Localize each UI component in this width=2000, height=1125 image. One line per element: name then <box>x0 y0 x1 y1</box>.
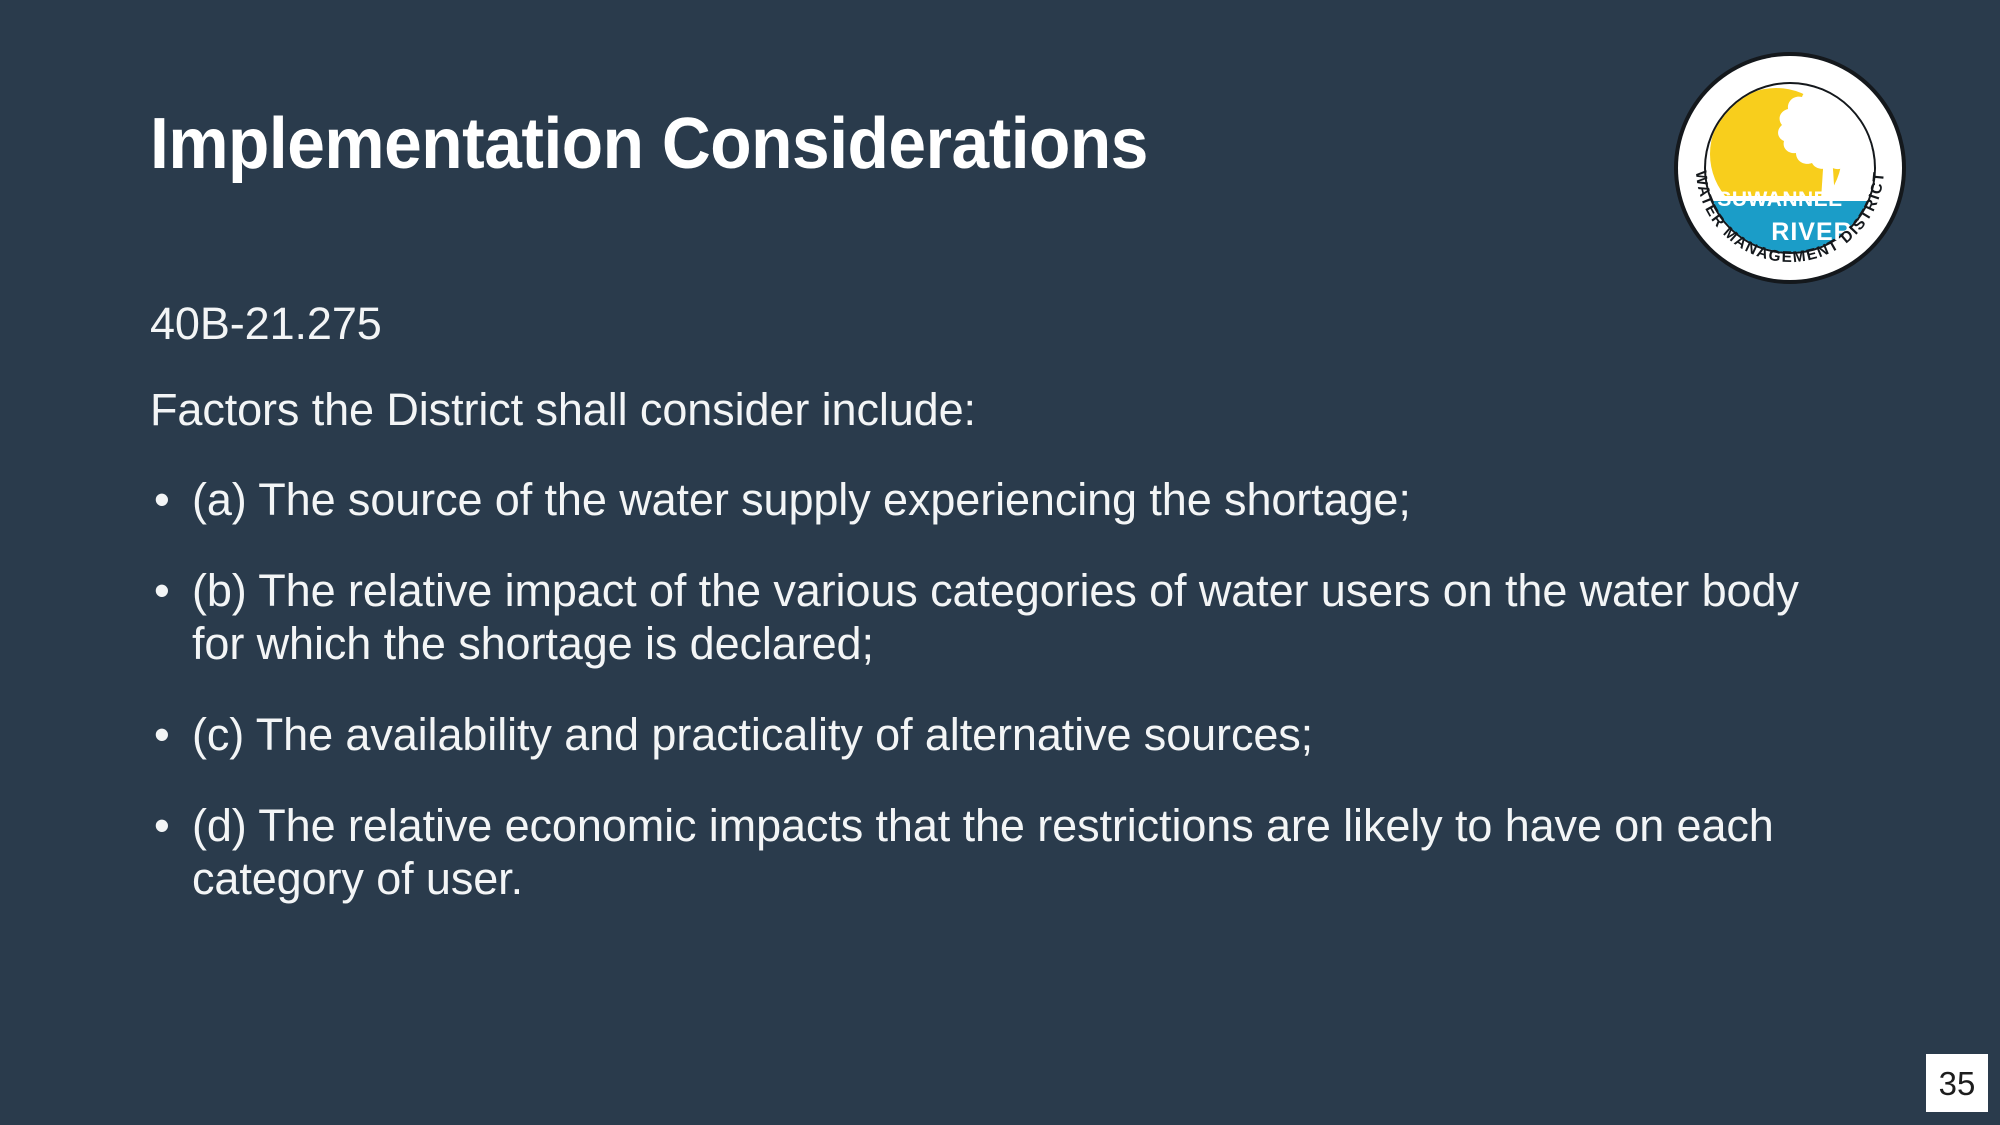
lead-in-text: Factors the District shall consider incl… <box>150 386 1840 433</box>
page-number-label: 35 <box>1939 1067 1976 1100</box>
list-item: • (b) The relative impact of the various… <box>150 564 1840 670</box>
list-item-label: (d) The relative economic impacts that t… <box>192 799 1822 905</box>
list-item: • (c) The availability and practicality … <box>150 708 1840 761</box>
suwannee-river-water-management-district-logo: SUWANNEE RIVER WATER MANAGEMENT DISTRICT <box>1672 50 1908 286</box>
list-item-label: (b) The relative impact of the various c… <box>192 564 1822 670</box>
page-title: Implementation Considerations <box>150 107 1504 183</box>
bullet-dot-icon: • <box>150 473 192 526</box>
rule-number: 40B-21.275 <box>150 300 1840 347</box>
bullet-dot-icon: • <box>150 799 192 852</box>
svg-text:SUWANNEE: SUWANNEE <box>1717 188 1842 211</box>
list-item: • (d) The relative economic impacts that… <box>150 799 1840 905</box>
list-item-label: (c) The availability and practicality of… <box>192 708 1822 761</box>
bullet-dot-icon: • <box>150 564 192 617</box>
bullet-dot-icon: • <box>150 708 192 761</box>
slide-canvas: Implementation Considerations <box>0 0 2000 1125</box>
list-item: • (a) The source of the water supply exp… <box>150 473 1840 526</box>
page-number-badge: 35 <box>1926 1054 1988 1112</box>
list-item-label: (a) The source of the water supply exper… <box>192 473 1822 526</box>
slide-body: 40B-21.275 Factors the District shall co… <box>150 300 1840 943</box>
